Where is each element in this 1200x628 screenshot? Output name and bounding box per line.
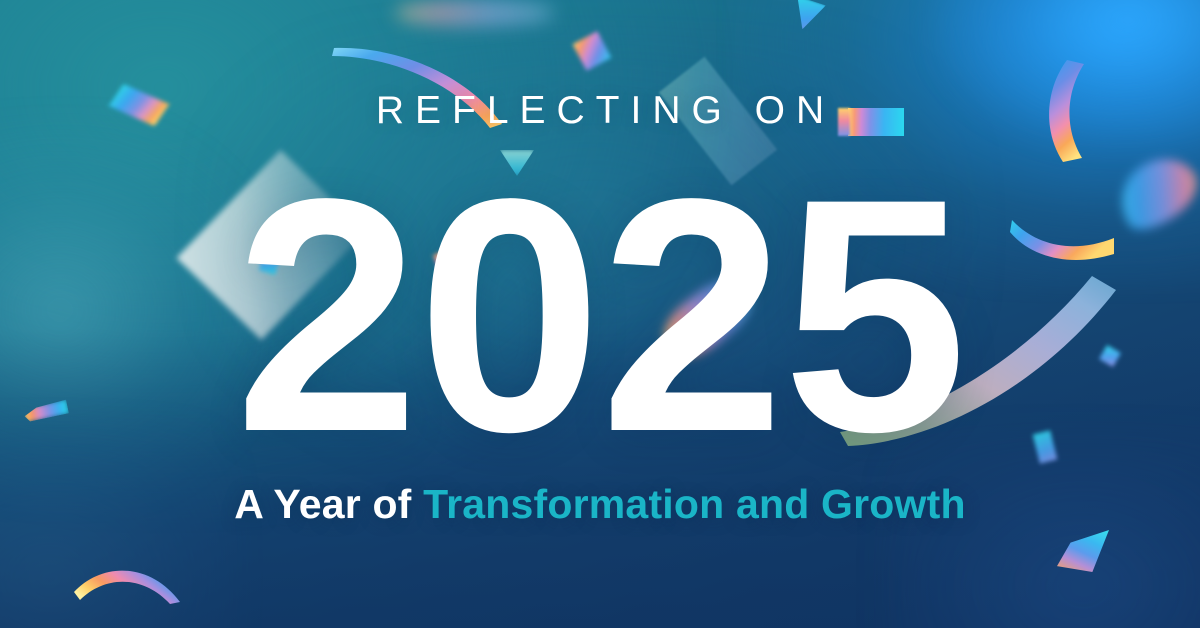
banner-year: 2025 [0, 150, 1200, 482]
banner-canvas: REFLECTING ON 2025 A Year of Transformat… [0, 0, 1200, 628]
banner-subtitle: A Year of Transformation and Growth [0, 484, 1200, 525]
banner-subtitle-accent: Transformation and Growth [423, 481, 966, 527]
banner-content: REFLECTING ON 2025 A Year of Transformat… [0, 0, 1200, 628]
banner-eyebrow: REFLECTING ON [0, 91, 1200, 130]
banner-subtitle-lead: A Year of [234, 481, 423, 527]
